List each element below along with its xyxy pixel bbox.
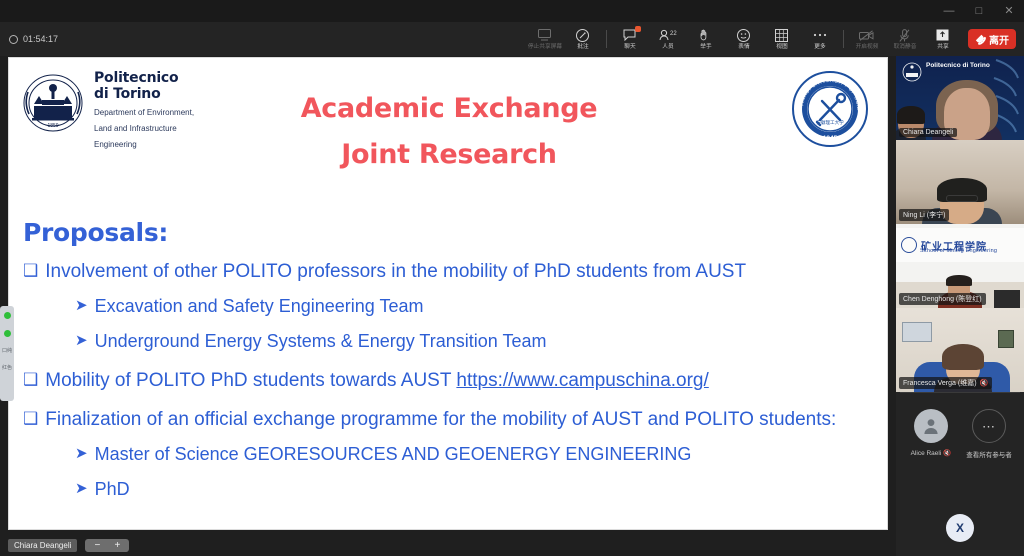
tile-name-label: Ning Li (李宁) [899, 209, 949, 221]
video-tile-chiara-deangeli[interactable]: Politecnico di Torino Chiara Deangeli [896, 56, 1024, 140]
stop-share-label: 停止共享屏幕 [528, 44, 562, 51]
participants-filmstrip: Politecnico di Torino Chiara Deangeli [896, 56, 1024, 556]
monitor-shape [994, 290, 1020, 308]
bullet-item: ➤ Master of Science GEORESOURCES AND GEO… [23, 441, 883, 468]
tile-banner: 矿业工程学院 [896, 228, 1024, 262]
slide-title-line2: Joint Research [9, 132, 889, 178]
bullet-text: Involvement of other POLITO professors i… [45, 258, 746, 285]
bullet-text: Underground Energy Systems & Energy Tran… [95, 328, 547, 355]
wall-picture [902, 322, 932, 342]
emoji-icon [737, 28, 750, 43]
video-tile-francesca-verga[interactable]: Francesca Verga (维嘉) 🔇 [896, 308, 1024, 392]
bullet-item: ❑ Involvement of other POLITO professors… [23, 258, 883, 285]
reactions-button[interactable]: 表情 [725, 22, 763, 56]
share-screen-icon [936, 28, 949, 43]
person-hair [946, 275, 972, 286]
share-screen-label: 共享 [937, 44, 948, 51]
mic-muted-icon: 🔇 [980, 379, 989, 387]
presenter-name-label: Chiara Deangeli [8, 539, 77, 552]
shield-icon [9, 35, 18, 44]
bullet-item: ➤ PhD [23, 476, 883, 503]
layout-icon [775, 28, 788, 43]
shared-screen-stage: 1859 Politecnico di Torino Department of… [0, 56, 896, 556]
chat-unread-badge [635, 26, 641, 32]
presenter-bar: Chiara Deangeli − + [8, 539, 129, 552]
bullet-text: PhD [95, 476, 130, 503]
rail-label-top: 口纯 [2, 348, 12, 354]
bullet-item: ❑ Finalization of an official exchange p… [23, 406, 883, 433]
arrow-bullet-icon: ➤ [75, 293, 88, 320]
zoom-in-button[interactable]: + [107, 539, 127, 552]
svg-text:22: 22 [670, 31, 677, 37]
bullet-text-part: Mobility of POLITO PhD students towards … [45, 370, 456, 391]
participants-icon: 22 [659, 28, 677, 43]
chat-label: 聊天 [624, 44, 635, 51]
raise-hand-icon [700, 28, 712, 43]
more-label: 更多 [814, 44, 825, 51]
participants-button[interactable]: 22 人员 [649, 22, 687, 56]
arrow-bullet-icon: ➤ [75, 476, 88, 503]
slide-body: ❑ Involvement of other POLITO professors… [23, 258, 883, 511]
camera-off-icon [859, 28, 874, 43]
participants-label: 人员 [662, 44, 673, 51]
rail-indicator-dot[interactable] [4, 330, 11, 337]
meeting-timer-value: 01:54:17 [23, 34, 58, 44]
stop-share-button[interactable]: 停止共享屏幕 [526, 22, 564, 56]
raise-hand-label: 举手 [700, 44, 711, 51]
arrow-bullet-icon: ➤ [75, 328, 88, 355]
annotate-button[interactable]: 批注 [564, 22, 602, 56]
phone-hangup-icon: ☎ [973, 31, 989, 47]
toolbar-divider [606, 30, 607, 48]
bullet-text: Master of Science GEORESOURCES AND GEOEN… [95, 441, 692, 468]
bullet-item: ➤ Excavation and Safety Engineering Team [23, 293, 883, 320]
bullet-item: ❑ Mobility of POLITO PhD students toward… [23, 367, 883, 394]
rail-indicator-dot[interactable] [4, 312, 11, 319]
checkbox-bullet-icon: ❑ [23, 367, 38, 394]
raise-hand-button[interactable]: 举手 [687, 22, 725, 56]
slide-title: Academic Exchange Joint Research [9, 86, 889, 178]
glasses-icon [946, 195, 978, 202]
rail-label-bottom: 红色 [2, 365, 12, 371]
stop-share-icon [538, 28, 551, 43]
slide-title-line1: Academic Exchange [9, 86, 889, 132]
avatar-name-text: Alice Raeli [911, 450, 942, 457]
toggle-mute-label: 取消静音 [893, 44, 916, 51]
tile-name-text: Chen Denghong (陈登红) [903, 294, 982, 304]
tile-name-text: Chiara Deangeli [903, 129, 953, 136]
chat-button[interactable]: 聊天 [611, 22, 649, 56]
bottom-bubble[interactable]: X [896, 514, 1024, 542]
avatar-name-label: Alice Raeli 🔇 [911, 449, 952, 457]
tile-name-label: Francesca Verga (维嘉) 🔇 [899, 377, 992, 389]
bullet-text: Finalization of an official exchange pro… [45, 406, 883, 433]
video-tile-chen-denghong[interactable]: 矿业工程学院 School of Mining Engineering Chen… [896, 224, 1024, 308]
toggle-video-button[interactable]: 开启视频 [848, 22, 886, 56]
mining-school-seal-icon [901, 237, 917, 253]
bottom-bubble-badge: X [946, 514, 974, 542]
slide-section-heading: Proposals: [23, 218, 168, 247]
person-hair-secondary [897, 106, 925, 124]
meeting-toolbar: 01:54:17 停止共享屏幕 批注 聊天 [0, 22, 1024, 56]
view-all-participants-label: 查看所有参与者 [966, 449, 1012, 459]
view-layout-label: 视图 [776, 44, 787, 51]
checkbox-bullet-icon: ❑ [23, 258, 38, 285]
tile-banner-text: Politecnico di Torino [926, 62, 990, 70]
annotation-rail[interactable]: 口纯 红色 [0, 306, 14, 401]
zoom-control[interactable]: − + [85, 539, 129, 552]
window-minimize-button[interactable]: — [934, 0, 964, 22]
toggle-mute-button[interactable]: 取消静音 [886, 22, 924, 56]
bullet-text: Excavation and Safety Engineering Team [95, 293, 424, 320]
ellipsis-icon: ⋯ [972, 409, 1006, 443]
window-close-button[interactable]: ✕ [994, 0, 1024, 22]
campuschina-link[interactable]: https://www.campuschina.org/ [456, 370, 708, 391]
meeting-timer: 01:54:17 [9, 34, 58, 44]
mic-off-icon [899, 28, 910, 43]
tile-name-text: Francesca Verga (维嘉) [903, 378, 977, 388]
tile-banner-en: School of Mining Engineering [920, 248, 997, 254]
bullet-text: Mobility of POLITO PhD students towards … [45, 367, 709, 394]
checkbox-bullet-icon: ❑ [23, 406, 38, 433]
tile-name-label: Chiara Deangeli [899, 128, 957, 137]
reactions-label: 表情 [738, 44, 749, 51]
zoom-out-button[interactable]: − [87, 539, 107, 552]
tile-name-text: Ning Li (李宁) [903, 210, 945, 220]
leave-meeting-label: 离开 [989, 32, 1009, 47]
leave-meeting-button[interactable]: ☎ 离开 [968, 29, 1016, 49]
polito-name-line1: Politecnico [94, 70, 194, 86]
video-tile-ning-li[interactable]: Ning Li (李宁) [896, 140, 1024, 224]
mic-muted-icon: 🔇 [943, 449, 951, 457]
wall-picture-2 [998, 330, 1014, 348]
bullet-item: ➤ Underground Energy Systems & Energy Tr… [23, 328, 883, 355]
view-layout-button[interactable]: 视图 [763, 22, 801, 56]
window-maximize-button[interactable]: □ [964, 0, 994, 22]
window-titlebar: — □ ✕ [0, 0, 1024, 22]
toggle-video-label: 开启视频 [855, 44, 878, 51]
toolbar-divider-2 [843, 30, 844, 48]
person-avatar-icon [914, 409, 948, 443]
share-screen-button[interactable]: 共享 [924, 22, 962, 56]
participants-avatar-row: Alice Raeli 🔇 ⋯ 查看所有参与者 [896, 393, 1024, 471]
more-options-button[interactable]: 更多 [801, 22, 839, 56]
polito-crest-icon [902, 62, 922, 82]
zoom-meeting-window: — □ ✕ 01:54:17 停止共享屏幕 批注 [0, 0, 1024, 556]
participant-alice-raeli[interactable]: Alice Raeli 🔇 [903, 409, 959, 457]
annotate-icon [576, 28, 589, 43]
more-icon [813, 28, 827, 43]
presentation-slide: 1859 Politecnico di Torino Department of… [8, 57, 888, 530]
annotate-label: 批注 [577, 44, 588, 51]
person-hair [942, 344, 984, 370]
arrow-bullet-icon: ➤ [75, 441, 88, 468]
tile-name-label: Chen Denghong (陈登红) [899, 293, 986, 305]
view-all-participants-button[interactable]: ⋯ 查看所有参与者 [961, 409, 1017, 459]
